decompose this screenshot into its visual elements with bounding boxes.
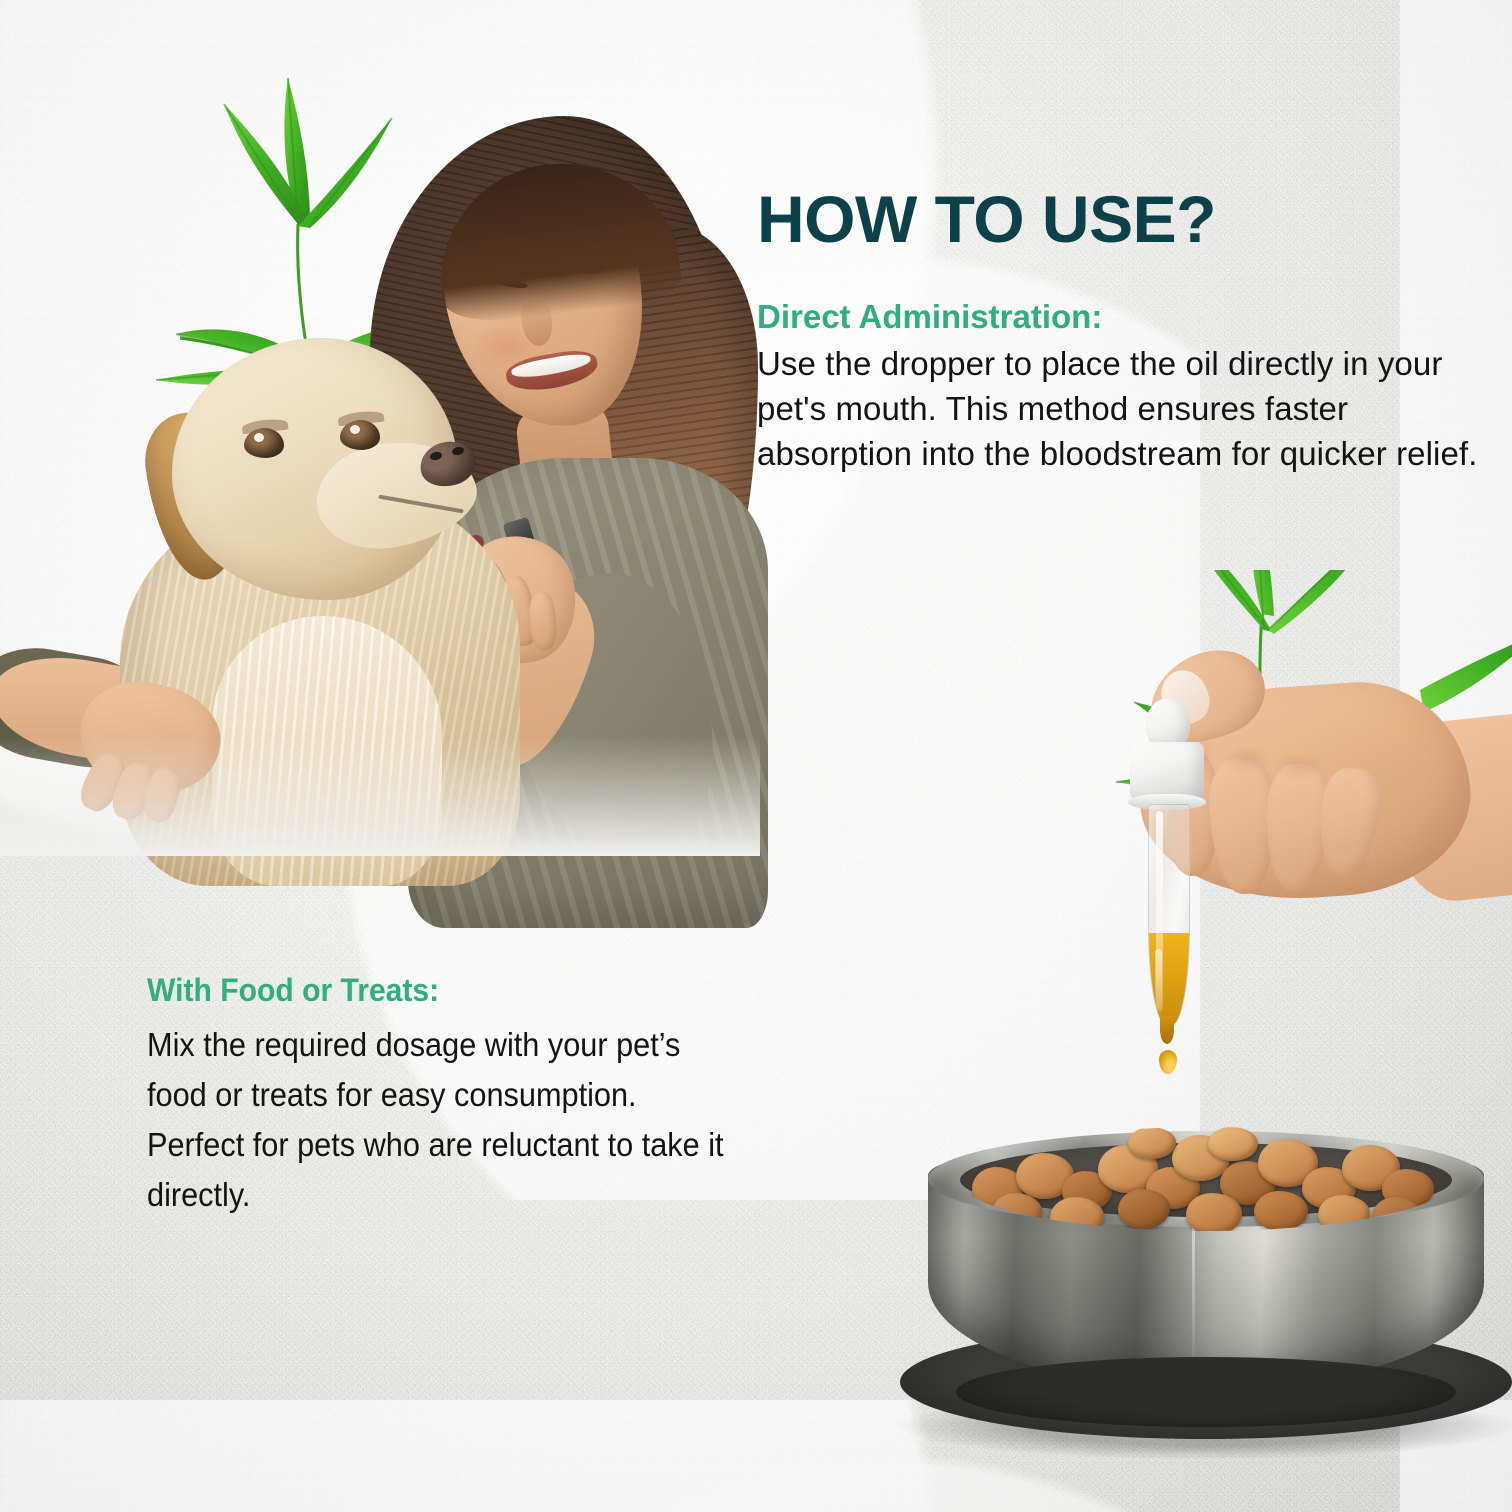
section-body: Use the dropper to place the oil directl… xyxy=(757,341,1497,477)
dog-eye-highlight-left xyxy=(254,433,264,442)
woman-and-dog-photo xyxy=(0,46,760,856)
dropper-glass-tube xyxy=(1148,804,1190,1026)
scene-bottom-fade xyxy=(0,736,760,856)
section-subheading: Direct Administration: xyxy=(757,298,1497,337)
poster-canvas: HOW TO USE? Direct Administration: Use t… xyxy=(0,0,1512,1512)
dog-eye-left xyxy=(244,428,284,458)
page-title: HOW TO USE? xyxy=(757,186,1216,252)
dog-eye-highlight-right xyxy=(350,425,360,434)
dog-eye-right xyxy=(340,420,380,450)
knuckle-2 xyxy=(1220,744,1272,776)
glass-oil-dropper xyxy=(1120,698,1210,1078)
glass-highlight xyxy=(1156,811,1163,1011)
hand-dropper-bowl-photo xyxy=(880,580,1512,1460)
section-body: Mix the required dosage with your pet’s … xyxy=(147,1020,742,1221)
knuckle-3 xyxy=(1274,752,1324,782)
dropper-tip xyxy=(1160,1016,1174,1044)
oil-droplet xyxy=(1159,1050,1177,1074)
kibble-pile xyxy=(958,1127,1454,1231)
section-direct-administration: Direct Administration: Use the dropper t… xyxy=(757,298,1497,477)
section-with-food-or-treats: With Food or Treats: Mix the required do… xyxy=(147,972,787,1220)
dropper-cap xyxy=(1130,742,1204,802)
bowl-foot-ring xyxy=(956,1357,1456,1427)
stainless-steel-dog-bowl xyxy=(900,1125,1512,1445)
section-subheading: With Food or Treats: xyxy=(147,972,749,1010)
